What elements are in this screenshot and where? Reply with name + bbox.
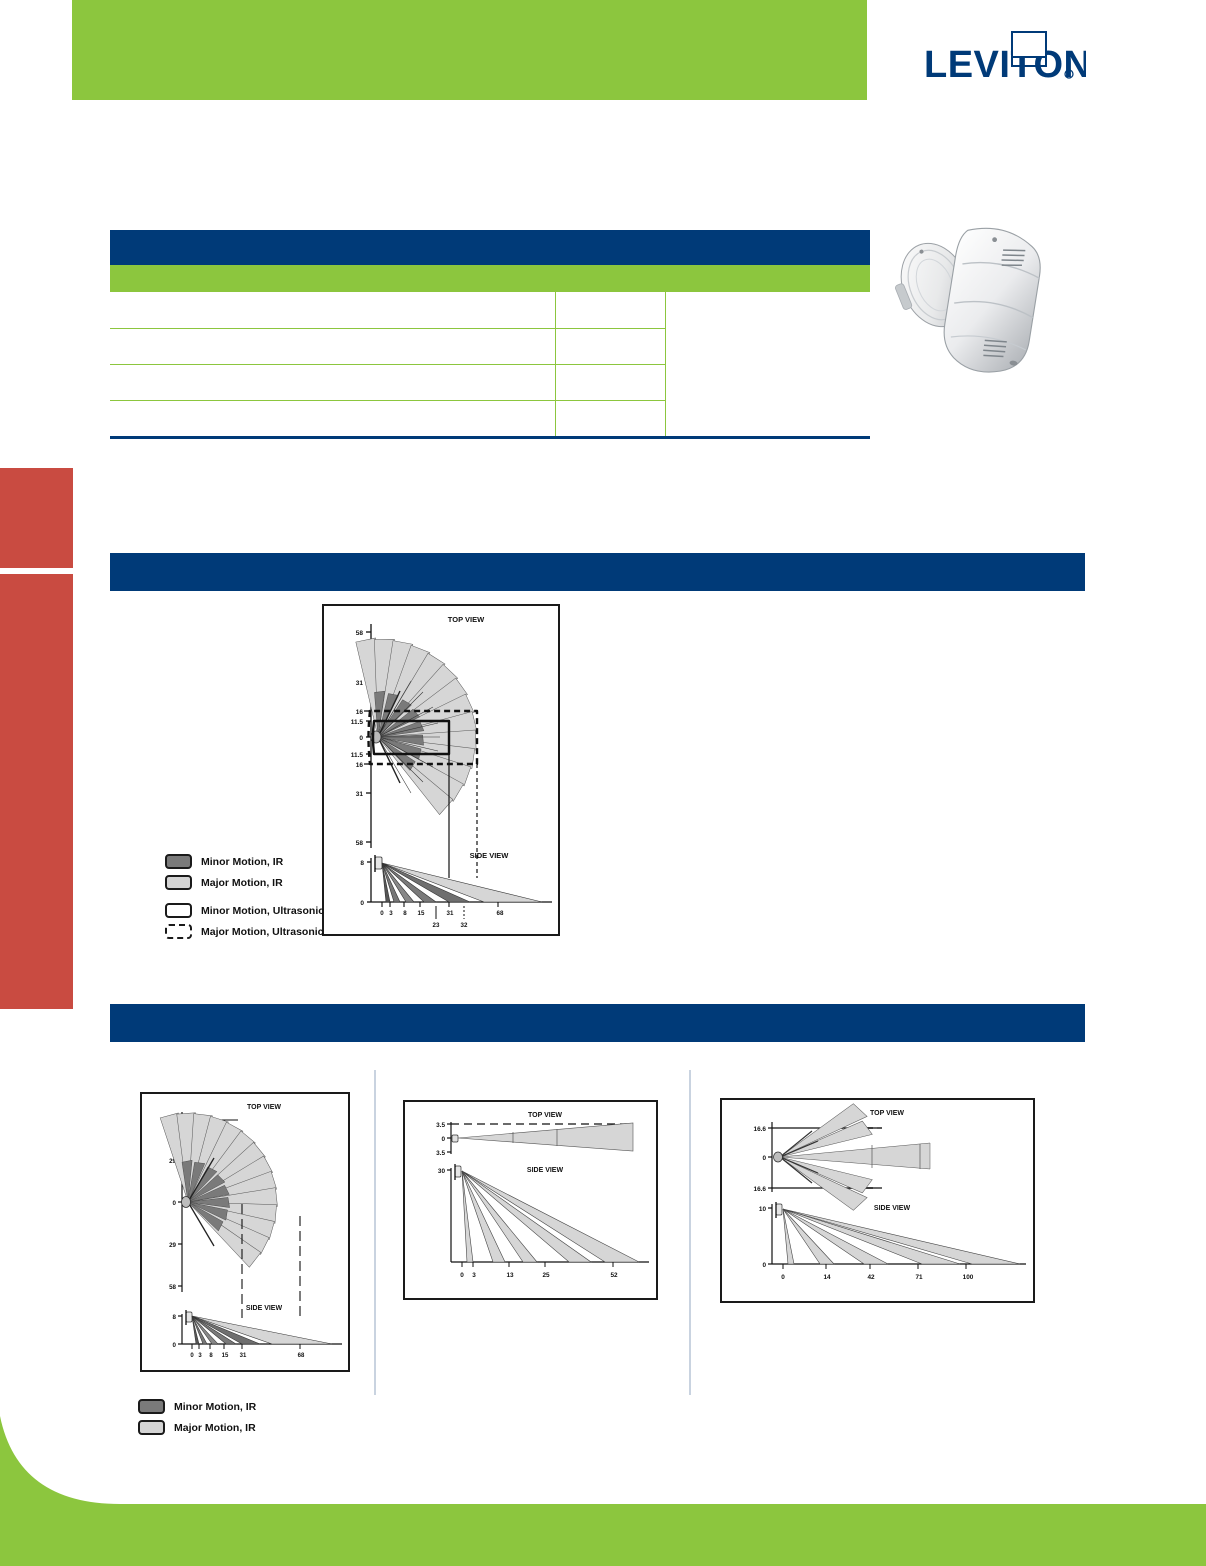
svg-text:0: 0 bbox=[762, 1262, 766, 1269]
section-header-patterns bbox=[110, 1004, 1085, 1042]
svg-text:31: 31 bbox=[356, 680, 364, 687]
table-cell-description bbox=[110, 328, 555, 364]
svg-text:30: 30 bbox=[438, 1168, 446, 1175]
table-cell-value bbox=[555, 364, 665, 400]
svg-text:31: 31 bbox=[240, 1353, 247, 1359]
svg-text:32: 32 bbox=[461, 922, 468, 929]
swatch-minor-motion-ultrasonic-icon bbox=[165, 903, 192, 918]
svg-text:SIDE VIEW: SIDE VIEW bbox=[874, 1205, 911, 1212]
legend-main: Minor Motion, IR Major Motion, IR Minor … bbox=[165, 851, 324, 942]
chart-divider bbox=[374, 1070, 376, 1395]
footer-green-curve bbox=[0, 1416, 1206, 1566]
svg-text:0: 0 bbox=[781, 1274, 785, 1281]
svg-text:TOP VIEW: TOP VIEW bbox=[870, 1110, 904, 1117]
svg-text:13: 13 bbox=[506, 1272, 514, 1279]
svg-text:10: 10 bbox=[759, 1206, 767, 1213]
legend-item: Major Motion, Ultrasonic bbox=[165, 921, 324, 942]
svg-text:15: 15 bbox=[222, 1353, 229, 1359]
svg-text:SIDE VIEW: SIDE VIEW bbox=[246, 1305, 283, 1312]
svg-text:0: 0 bbox=[173, 1200, 177, 1207]
side-tab-upper[interactable] bbox=[0, 468, 73, 568]
svg-text:0: 0 bbox=[762, 1155, 766, 1162]
table-cell-description bbox=[110, 292, 555, 328]
svg-text:68: 68 bbox=[298, 1353, 305, 1359]
svg-text:SIDE VIEW: SIDE VIEW bbox=[527, 1167, 564, 1174]
legend-item: Major Motion, IR bbox=[138, 1417, 256, 1438]
svg-text:58: 58 bbox=[356, 840, 364, 847]
coverage-diagram-b: TOP VIEW 3.5 0 3.5 SIDE VIEW 30 bbox=[403, 1100, 658, 1300]
svg-text:0: 0 bbox=[460, 1272, 464, 1279]
legend-label: Major Motion, Ultrasonic bbox=[201, 926, 324, 938]
header-green-banner bbox=[72, 0, 867, 100]
legend-bottom: Minor Motion, IR Major Motion, IR bbox=[138, 1396, 256, 1438]
table-cell-value bbox=[555, 400, 665, 436]
svg-text:TOP VIEW: TOP VIEW bbox=[247, 1104, 281, 1111]
table-cell-note bbox=[665, 292, 870, 328]
svg-text:TOP VIEW: TOP VIEW bbox=[448, 615, 485, 624]
svg-text:100: 100 bbox=[963, 1274, 974, 1281]
leviton-logo: LEVITON R bbox=[921, 28, 1086, 98]
svg-text:0: 0 bbox=[441, 1136, 445, 1143]
svg-text:15: 15 bbox=[418, 910, 425, 917]
svg-text:0: 0 bbox=[360, 900, 364, 907]
legend-label: Major Motion, IR bbox=[201, 877, 283, 889]
product-photo bbox=[877, 213, 1057, 385]
spec-table bbox=[110, 292, 870, 436]
table-cell-note bbox=[665, 400, 870, 436]
svg-text:8: 8 bbox=[360, 860, 364, 867]
legend-item: Minor Motion, IR bbox=[138, 1396, 256, 1417]
svg-text:11.5: 11.5 bbox=[351, 752, 364, 759]
svg-text:3: 3 bbox=[389, 910, 393, 917]
table-cell-description bbox=[110, 400, 555, 436]
swatch-major-motion-ir-icon bbox=[138, 1420, 165, 1435]
legend-label: Minor Motion, IR bbox=[201, 856, 283, 868]
svg-text:LEVITON: LEVITON bbox=[924, 44, 1086, 86]
chart-divider bbox=[689, 1070, 691, 1395]
coverage-diagram-a: TOP VIEW 58 29 0 29 58 bbox=[140, 1092, 350, 1372]
spec-table-subtitle-bar bbox=[110, 265, 870, 292]
svg-text:0: 0 bbox=[380, 910, 384, 917]
swatch-major-motion-ir-icon bbox=[165, 875, 192, 890]
svg-text:3: 3 bbox=[472, 1272, 476, 1279]
svg-text:SIDE VIEW: SIDE VIEW bbox=[470, 851, 510, 860]
svg-text:3.5: 3.5 bbox=[436, 1150, 445, 1157]
svg-text:42: 42 bbox=[867, 1274, 875, 1281]
table-cell-description bbox=[110, 364, 555, 400]
svg-text:71: 71 bbox=[915, 1274, 923, 1281]
svg-text:R: R bbox=[1067, 73, 1071, 79]
legend-label: Minor Motion, IR bbox=[174, 1401, 256, 1413]
svg-text:68: 68 bbox=[497, 910, 504, 917]
swatch-minor-motion-ir-icon bbox=[165, 854, 192, 869]
svg-text:16: 16 bbox=[356, 709, 364, 716]
svg-text:23: 23 bbox=[433, 922, 440, 929]
legend-item: Minor Motion, IR bbox=[165, 851, 324, 872]
table-cell-note bbox=[665, 328, 870, 364]
table-row bbox=[110, 328, 870, 364]
table-row bbox=[110, 400, 870, 436]
legend-label: Major Motion, IR bbox=[174, 1422, 256, 1434]
legend-item: Minor Motion, Ultrasonic bbox=[165, 900, 324, 921]
svg-text:8: 8 bbox=[403, 910, 407, 917]
swatch-major-motion-ultrasonic-icon bbox=[165, 924, 192, 939]
svg-text:0: 0 bbox=[173, 1342, 177, 1349]
svg-text:52: 52 bbox=[610, 1272, 618, 1279]
legend-item: Major Motion, IR bbox=[165, 872, 324, 893]
svg-text:0: 0 bbox=[359, 735, 363, 742]
svg-text:16.6: 16.6 bbox=[754, 1186, 767, 1193]
svg-text:16.6: 16.6 bbox=[754, 1126, 767, 1133]
svg-text:3.5: 3.5 bbox=[436, 1122, 445, 1129]
table-cell-value bbox=[555, 292, 665, 328]
svg-text:TOP VIEW: TOP VIEW bbox=[528, 1112, 562, 1119]
swatch-minor-motion-ir-icon bbox=[138, 1399, 165, 1414]
svg-text:11.5: 11.5 bbox=[351, 719, 364, 726]
svg-text:14: 14 bbox=[823, 1274, 831, 1281]
svg-text:58: 58 bbox=[356, 630, 364, 637]
svg-text:16: 16 bbox=[356, 762, 364, 769]
coverage-diagram-main: TOP VIEW 58 31 16 11.5 0 11.5 16 31 58 bbox=[322, 604, 560, 936]
svg-text:25: 25 bbox=[542, 1272, 550, 1279]
spec-table-title-bar bbox=[110, 230, 870, 265]
table-row bbox=[110, 364, 870, 400]
table-cell-value bbox=[555, 328, 665, 364]
svg-text:8: 8 bbox=[173, 1314, 177, 1321]
legend-label: Minor Motion, Ultrasonic bbox=[201, 905, 324, 917]
coverage-diagram-c: TOP VIEW 16.6 0 16.6 bbox=[720, 1098, 1035, 1303]
spec-table-block bbox=[110, 230, 870, 439]
svg-text:31: 31 bbox=[356, 791, 364, 798]
side-tab-lower[interactable] bbox=[0, 574, 73, 1009]
section-header-coverage bbox=[110, 553, 1085, 591]
table-row bbox=[110, 292, 870, 328]
svg-text:58: 58 bbox=[169, 1284, 176, 1291]
svg-text:31: 31 bbox=[447, 910, 454, 917]
table-cell-note bbox=[665, 364, 870, 400]
table-bottom-rule bbox=[110, 436, 870, 439]
svg-text:29: 29 bbox=[169, 1242, 176, 1249]
